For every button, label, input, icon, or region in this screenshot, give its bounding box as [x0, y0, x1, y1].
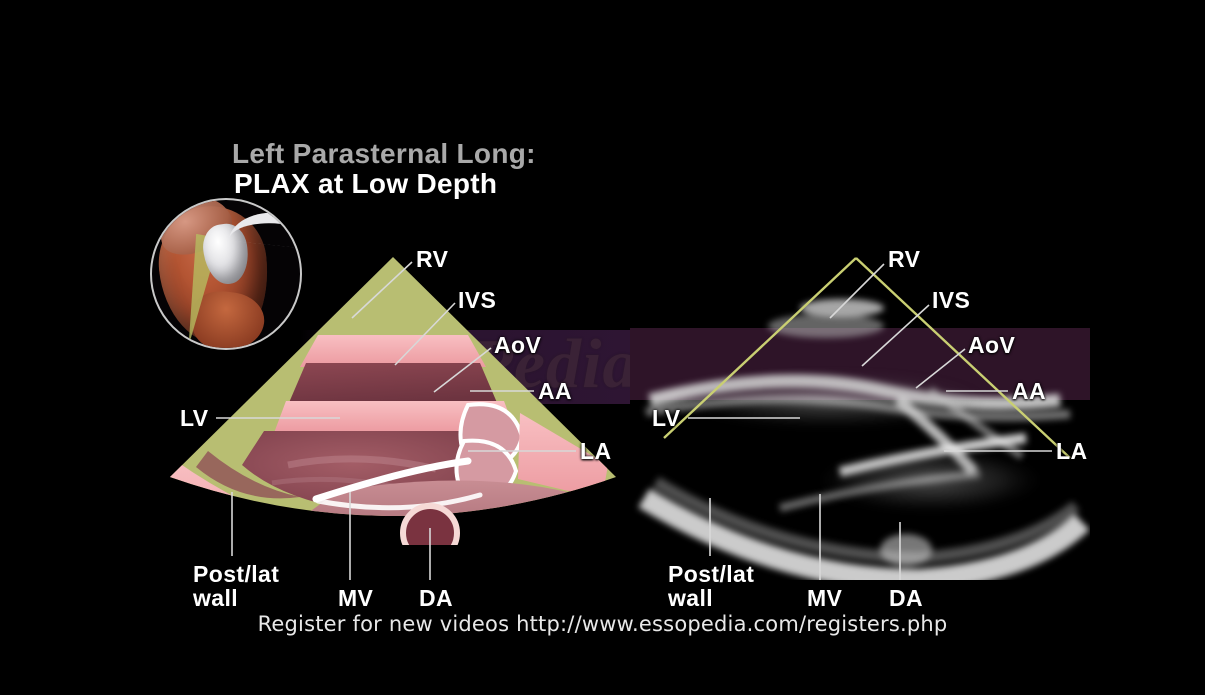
- video-frame: EssoPedia Left Parasternal Long: PLAX at…: [0, 0, 1205, 695]
- label-lv-right: LV: [652, 406, 680, 430]
- page-title: PLAX at Low Depth: [234, 168, 497, 200]
- label-la-left: LA: [580, 439, 611, 463]
- label-rv-left: RV: [416, 247, 448, 271]
- label-la-right: LA: [1056, 439, 1087, 463]
- label-rv-right: RV: [888, 247, 920, 271]
- title-line-1: Left Parasternal Long:: [232, 138, 536, 170]
- register-url-text: Register for new videos http://www.essop…: [0, 612, 1205, 636]
- ultrasound-image-graphic: [630, 250, 1090, 580]
- ultrasound-panel: [630, 250, 1090, 580]
- label-ivs-right: IVS: [932, 288, 970, 312]
- label-mv-left: MV: [338, 586, 373, 610]
- descending-aorta-circle: [403, 506, 457, 545]
- label-lv-left: LV: [180, 406, 208, 430]
- label-postlat-left: Post/lat wall: [193, 562, 279, 610]
- label-ivs-left: IVS: [458, 288, 496, 312]
- label-da-right: DA: [889, 586, 923, 610]
- label-aa-left: AA: [538, 379, 572, 403]
- label-aov-right: AoV: [968, 333, 1015, 357]
- label-aov-left: AoV: [494, 333, 541, 357]
- label-aa-right: AA: [1012, 379, 1046, 403]
- label-postlat-right: Post/lat wall: [668, 562, 754, 610]
- label-da-left: DA: [419, 586, 453, 610]
- label-mv-right: MV: [807, 586, 842, 610]
